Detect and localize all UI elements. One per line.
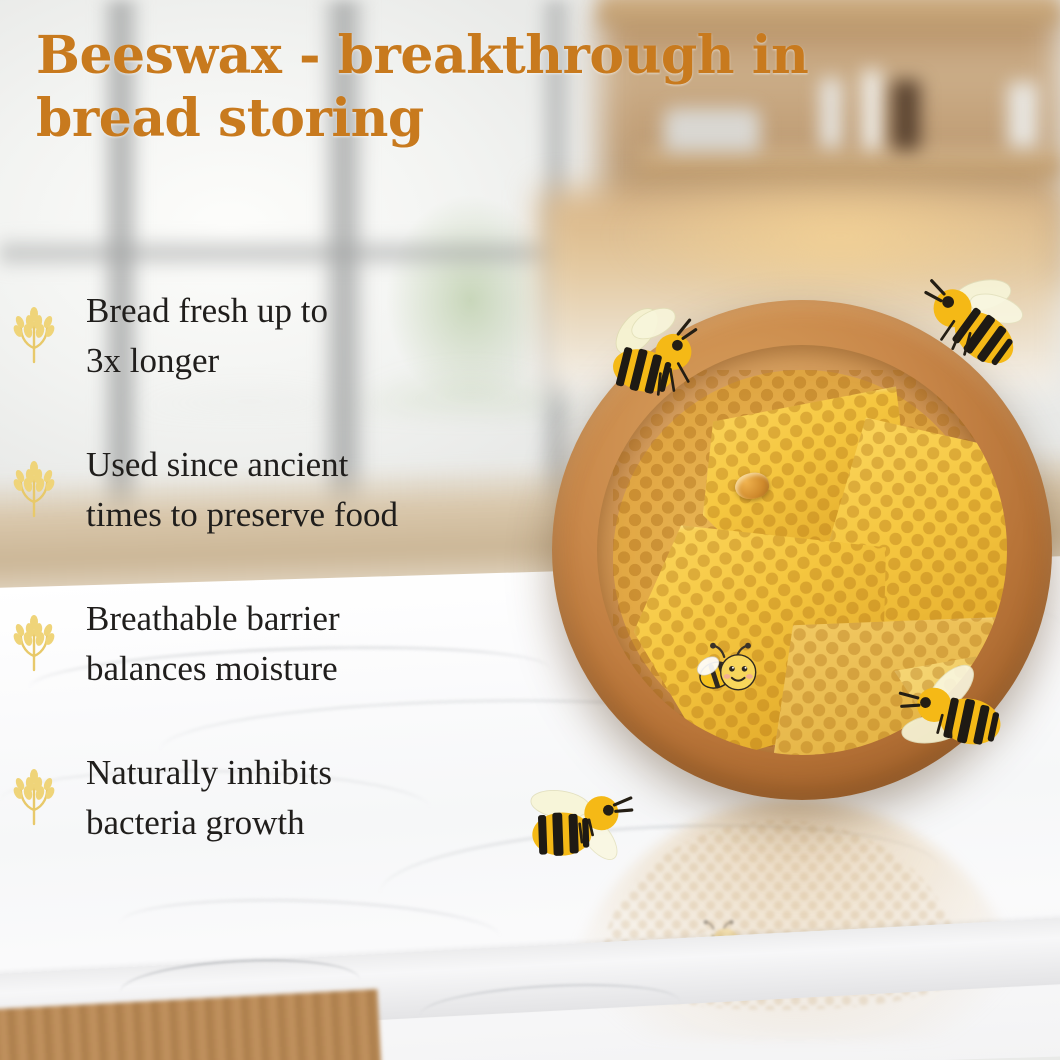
list-item-line-2: balances moisture — [86, 649, 338, 688]
benefits-list: Bread fresh up to 3x longer — [0, 286, 540, 902]
shelf-plank — [640, 150, 1060, 176]
list-item-label: Breathable barrier balances moisture — [62, 594, 540, 693]
list-item-label: Bread fresh up to 3x longer — [62, 286, 540, 385]
list-item-line-1: Naturally inhibits — [86, 753, 332, 792]
list-item: Breathable barrier balances moisture — [0, 594, 540, 698]
list-item: Used since ancient times to preserve foo… — [0, 440, 540, 544]
page-title: Beeswax - breakthrough in bread storing — [36, 24, 896, 151]
list-item: Naturally inhibits bacteria growth — [0, 748, 540, 852]
wheat-icon — [6, 300, 62, 360]
headline-line-1: Beeswax - breakthrough in — [36, 25, 808, 86]
wheat-icon — [6, 608, 62, 668]
shelf-bottle — [892, 80, 920, 150]
list-item: Bread fresh up to 3x longer — [0, 286, 540, 390]
bee-top-right-icon — [901, 259, 1037, 390]
headline-line-2: bread storing — [36, 88, 424, 149]
poster-canvas: Beeswax - breakthrough in bread storing — [0, 0, 1060, 1060]
list-item-line-2: bacteria growth — [86, 803, 305, 842]
shelf-canister — [1008, 82, 1038, 148]
list-item-line-2: times to preserve food — [86, 495, 398, 534]
list-item-label: Naturally inhibits bacteria growth — [62, 748, 540, 847]
bee-cartoon-center-icon — [692, 642, 762, 704]
list-item-label: Used since ancient times to preserve foo… — [62, 440, 540, 539]
shelf-plank — [600, 0, 1060, 24]
list-item-line-2: 3x longer — [86, 341, 219, 380]
window-transom — [0, 236, 600, 270]
list-item-line-1: Bread fresh up to — [86, 291, 328, 330]
list-item-line-1: Breathable barrier — [86, 599, 340, 638]
wheat-icon — [6, 454, 62, 514]
list-item-line-1: Used since ancient — [86, 445, 348, 484]
wheat-icon — [6, 762, 62, 822]
